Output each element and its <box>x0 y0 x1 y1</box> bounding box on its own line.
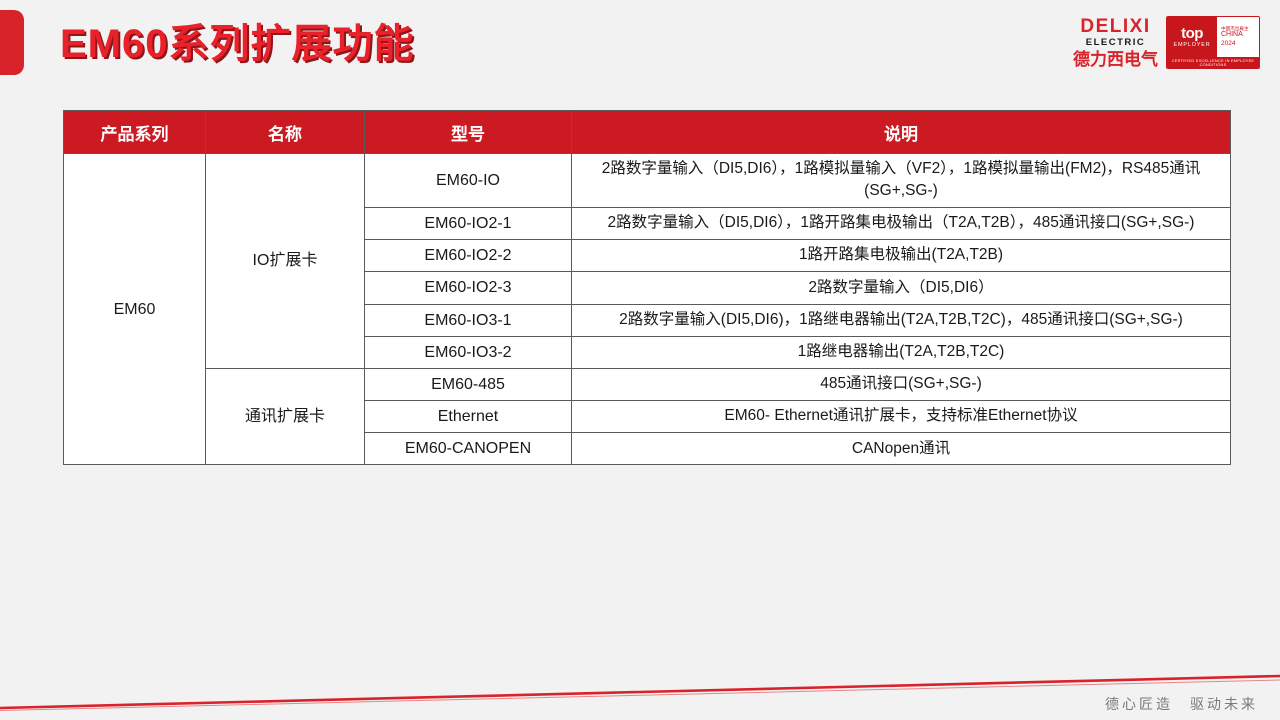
cell-description: 2路数字量输入（DI5,DI6），1路开路集电极输出（T2A,T2B），485通… <box>572 207 1231 239</box>
spec-table-wrapper: 产品系列 名称 型号 说明 EM60 IO扩展卡 EM60-IO 2路数字量输入… <box>63 110 1230 465</box>
badge-certified-text: CERTIFIED EXCELLENCE IN EMPLOYEE CONDITI… <box>1167 57 1259 68</box>
cell-model: Ethernet <box>365 401 572 433</box>
cell-group-io: IO扩展卡 <box>206 154 365 369</box>
cell-description: 2路数字量输入（DI5,DI6），1路模拟量输入（VF2），1路模拟量输出(FM… <box>572 154 1231 208</box>
cell-model: EM60-IO2-3 <box>365 272 572 304</box>
header-name: 名称 <box>206 111 365 154</box>
footer-red-line-icon <box>0 660 1280 720</box>
left-accent-tab <box>0 10 24 75</box>
cell-model: EM60-IO2-1 <box>365 207 572 239</box>
cell-model: EM60-485 <box>365 368 572 400</box>
header-product-series: 产品系列 <box>64 111 206 154</box>
top-employer-badge: top EMPLOYER 中国杰出雇主 CHINA 2024 CERTIFIED… <box>1166 16 1260 69</box>
expansion-spec-table: 产品系列 名称 型号 说明 EM60 IO扩展卡 EM60-IO 2路数字量输入… <box>63 110 1231 465</box>
cell-model: EM60-IO <box>365 154 572 208</box>
delixi-brand-cn: 德力西电气 <box>1073 51 1158 68</box>
slide-root: EM60系列扩展功能 DELIXI ELECTRIC 德力西电气 top EMP… <box>0 0 1280 720</box>
cell-model: EM60-IO3-2 <box>365 336 572 368</box>
cell-description: 1路继电器输出(T2A,T2B,T2C) <box>572 336 1231 368</box>
badge-country-text: CHINA <box>1221 31 1259 40</box>
badge-right-panel: 中国杰出雇主 CHINA 2024 <box>1217 17 1259 57</box>
page-title: EM60系列扩展功能 <box>60 17 415 71</box>
header-description: 说明 <box>572 111 1231 154</box>
badge-left-panel: top EMPLOYER <box>1167 17 1217 57</box>
cell-model: EM60-CANOPEN <box>365 433 572 465</box>
badge-year-text: 2024 <box>1221 40 1259 48</box>
cell-product-series: EM60 <box>64 154 206 465</box>
table-row: EM60 IO扩展卡 EM60-IO 2路数字量输入（DI5,DI6），1路模拟… <box>64 154 1231 208</box>
cell-model: EM60-IO3-1 <box>365 304 572 336</box>
badge-top-text: top <box>1181 26 1203 41</box>
table-header-row: 产品系列 名称 型号 说明 <box>64 111 1231 154</box>
cell-group-comm: 通讯扩展卡 <box>206 368 365 465</box>
cell-description: EM60- Ethernet通讯扩展卡，支持标准Ethernet协议 <box>572 401 1231 433</box>
badge-employer-text: EMPLOYER <box>1174 43 1211 49</box>
header-model: 型号 <box>365 111 572 154</box>
delixi-logo: DELIXI ELECTRIC 德力西电气 <box>1073 17 1158 68</box>
delixi-brand-en: DELIXI <box>1080 17 1150 36</box>
cell-description: 2路数字量输入（DI5,DI6） <box>572 272 1231 304</box>
cell-description: CANopen通讯 <box>572 433 1231 465</box>
footer-slogan: 德心匠造 驱动未来 <box>1105 694 1258 714</box>
cell-description: 1路开路集电极输出(T2A,T2B) <box>572 240 1231 272</box>
badge-main: top EMPLOYER 中国杰出雇主 CHINA 2024 <box>1167 17 1259 57</box>
table-head: 产品系列 名称 型号 说明 <box>64 111 1231 154</box>
delixi-brand-sub: ELECTRIC <box>1086 38 1146 48</box>
footer-decoration <box>0 660 1280 720</box>
brand-logo-group: DELIXI ELECTRIC 德力西电气 top EMPLOYER 中国杰出雇… <box>1073 16 1260 69</box>
cell-model: EM60-IO2-2 <box>365 240 572 272</box>
table-body: EM60 IO扩展卡 EM60-IO 2路数字量输入（DI5,DI6），1路模拟… <box>64 154 1231 465</box>
cell-description: 2路数字量输入(DI5,DI6)，1路继电器输出(T2A,T2B,T2C)，48… <box>572 304 1231 336</box>
cell-description: 485通讯接口(SG+,SG-) <box>572 368 1231 400</box>
table-row: 通讯扩展卡 EM60-485 485通讯接口(SG+,SG-) <box>64 368 1231 400</box>
